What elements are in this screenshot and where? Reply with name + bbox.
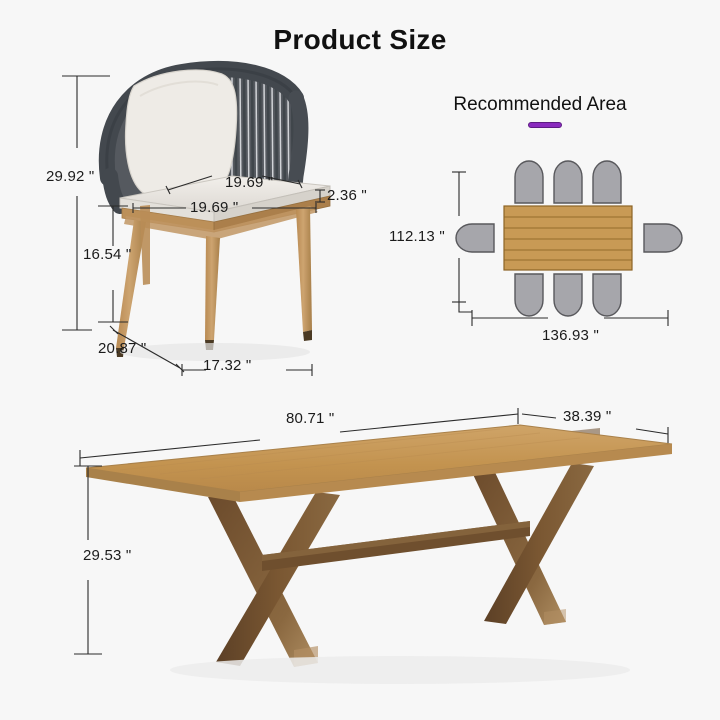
- chair-seat-depth-label: 19.69 ": [225, 174, 273, 191]
- plan-chair-top: [515, 161, 621, 203]
- dining-table-illustration: [86, 425, 672, 684]
- chair-cushion-thickness-label: 2.36 ": [327, 187, 367, 204]
- recommended-area-illustration: [456, 161, 682, 316]
- plan-chair-bottom: [515, 274, 621, 316]
- chair-seat-height-label: 16.54 ": [83, 246, 131, 263]
- product-size-page: Product Size Recommended Area: [0, 0, 720, 720]
- recommended-area-depth-label: 112.13 ": [389, 228, 445, 245]
- chair-seat-width-label: 19.69 ": [190, 199, 238, 216]
- plan-table-top: [504, 206, 632, 270]
- table-width-label: 38.39 ": [563, 408, 611, 425]
- recommended-area-width-label: 136.93 ": [542, 327, 599, 344]
- plan-chair-left: [456, 224, 494, 252]
- chair-height-label: 29.92 ": [46, 168, 94, 185]
- table-length-label: 80.71 ": [286, 410, 334, 427]
- chair-depth-label: 20.87 ": [98, 340, 146, 357]
- plan-chair-right: [644, 224, 682, 252]
- diagram-canvas: [0, 0, 720, 720]
- chair-width-label: 17.32 ": [203, 357, 251, 374]
- table-height-label: 29.53 ": [83, 547, 131, 564]
- table-top: [86, 425, 672, 502]
